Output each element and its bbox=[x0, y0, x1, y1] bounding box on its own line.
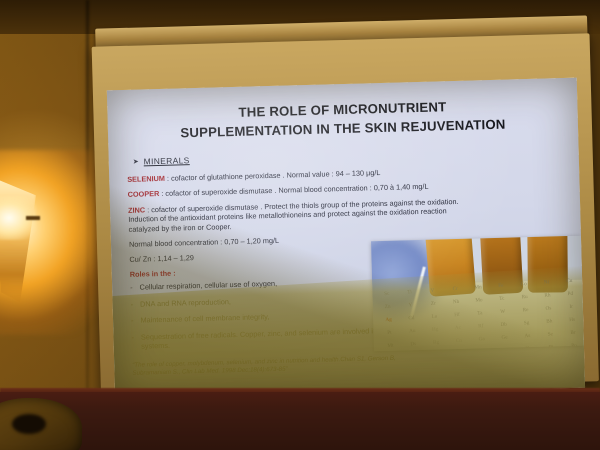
chair-back-opening bbox=[12, 414, 46, 434]
entry-zinc: ZINC : cofactor of superoxide dismutase … bbox=[128, 194, 565, 233]
entry-selenium-text: : cofactor of glutathione peroxidase . N… bbox=[165, 168, 381, 183]
presentation-slide: THE ROLE OF MICRONUTRIENT SUPPLEMENTATIO… bbox=[107, 78, 585, 401]
dash-bullet-icon: - bbox=[131, 332, 134, 350]
screen-frame: THE ROLE OF MICRONUTRIENT SUPPLEMENTATIO… bbox=[92, 33, 599, 394]
role-item-text: Cellular respiration, cellular use of ox… bbox=[139, 279, 277, 292]
role-item-text: Maintenance of cell membrane integrity, bbox=[140, 312, 269, 324]
entry-cooper-name: COOPER bbox=[128, 189, 160, 199]
dash-bullet-icon: - bbox=[130, 283, 133, 292]
lab-photo-inset: ScTiVCrMnFeCoNiCuZnYZrNbMoTcRuRhPdAgCdLa… bbox=[371, 236, 584, 352]
photograph-scene: THE ROLE OF MICRONUTRIENT SUPPLEMENTATIO… bbox=[0, 0, 600, 450]
wainscot-panel bbox=[0, 392, 600, 450]
section-minerals: ➤ MINERALS bbox=[133, 146, 563, 166]
dash-bullet-icon: - bbox=[131, 299, 134, 308]
projection-screen: THE ROLE OF MICRONUTRIENT SUPPLEMENTATIO… bbox=[91, 11, 599, 396]
role-item-text: DNA and RNA reproduction, bbox=[140, 297, 231, 308]
entry-zinc-name: ZINC bbox=[128, 206, 145, 215]
photo-glare bbox=[391, 306, 512, 352]
wall-sconce-arm bbox=[26, 216, 40, 220]
element-symbol: Te bbox=[448, 350, 472, 351]
element-symbol: I bbox=[471, 348, 495, 351]
slide-title: THE ROLE OF MICRONUTRIENT SUPPLEMENTATIO… bbox=[107, 94, 578, 145]
entry-selenium-name: SELENIUM bbox=[127, 174, 165, 184]
section-minerals-label: MINERALS bbox=[144, 156, 190, 166]
arrow-bullet-icon: ➤ bbox=[133, 158, 139, 165]
entry-cooper-text: : cofactor of superoxide dismutase . Nor… bbox=[159, 182, 428, 198]
entry-zinc-line3: catalyzed by the iron or Cooper. bbox=[128, 222, 231, 234]
dash-bullet-icon: - bbox=[131, 316, 134, 325]
